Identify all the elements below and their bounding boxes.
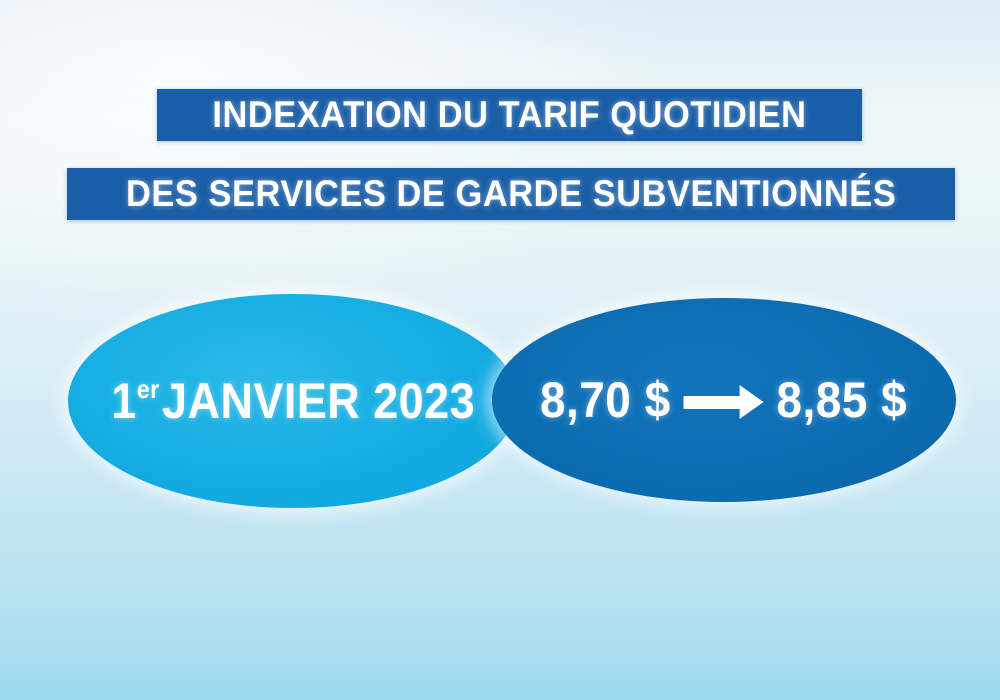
headline-line-1-text: INDEXATION DU TARIF QUOTIDIEN [212,94,806,136]
date-label: JANVIER 2023 [162,372,475,430]
price-callout-text: 8,70 $ 8,85 $ [540,371,907,429]
arrow-head [740,385,764,419]
headline-banner-line-1: INDEXATION DU TARIF QUOTIDIEN [157,89,862,141]
date-callout-ellipse: 1er JANVIER 2023 [68,294,518,508]
price-callout-ellipse: 8,70 $ 8,85 $ [492,298,956,502]
price-new-value: 8,85 $ [777,371,908,429]
date-prefix: 1 [111,372,136,430]
arrow-shaft [684,396,741,409]
arrow-right-icon [684,385,764,419]
headline-banner-line-2: DES SERVICES DE GARDE SUBVENTIONNÉS [67,168,955,220]
poster-canvas: INDEXATION DU TARIF QUOTIDIEN DES SERVIC… [0,0,1000,700]
headline-line-2-text: DES SERVICES DE GARDE SUBVENTIONNÉS [126,173,896,215]
date-ordinal-suffix: er [137,374,160,405]
price-old-value: 8,70 $ [540,371,671,429]
date-callout-text: 1er JANVIER 2023 [111,372,475,430]
